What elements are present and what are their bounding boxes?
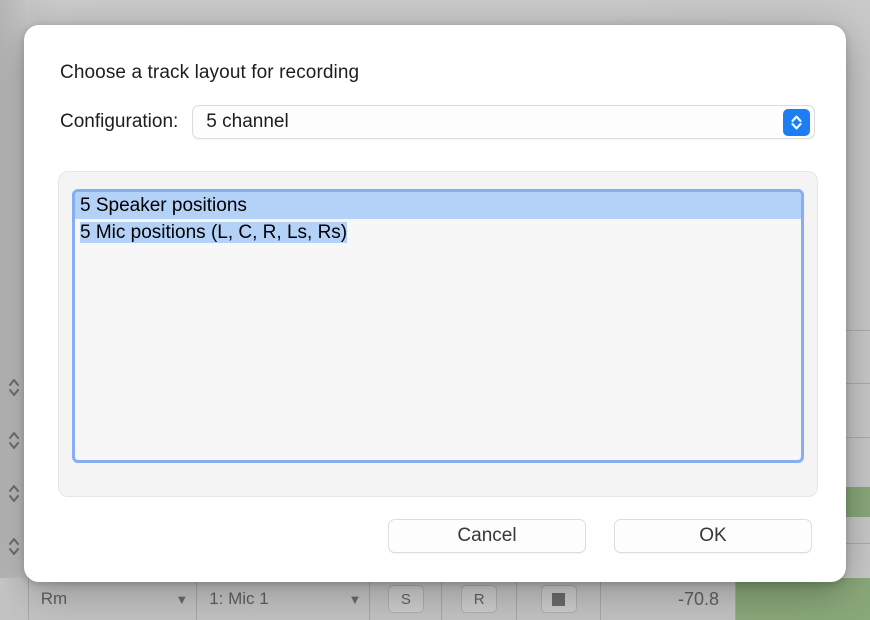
configuration-label: Configuration: [60,111,178,133]
list-item[interactable]: 5 Speaker positions [75,192,801,219]
configuration-select[interactable]: 5 channel [192,105,815,139]
cancel-button[interactable]: Cancel [388,519,586,553]
configuration-selected-value: 5 channel [206,111,288,133]
list-item[interactable]: 5 Mic positions (L, C, R, Ls, Rs) [75,219,801,246]
list-item-label: 5 Speaker positions [80,195,247,216]
updown-chevron-icon[interactable] [783,109,810,136]
list-item-label: 5 Mic positions (L, C, R, Ls, Rs) [80,222,347,243]
track-layout-dialog: Choose a track layout for recording Conf… [24,25,846,582]
ok-button[interactable]: OK [614,519,812,553]
dialog-title: Choose a track layout for recording [60,62,359,84]
configuration-row: Configuration: 5 channel [60,105,815,139]
dialog-button-bar: Cancel OK [388,519,812,553]
layout-list[interactable]: 5 Speaker positions 5 Mic positions (L, … [72,189,804,463]
